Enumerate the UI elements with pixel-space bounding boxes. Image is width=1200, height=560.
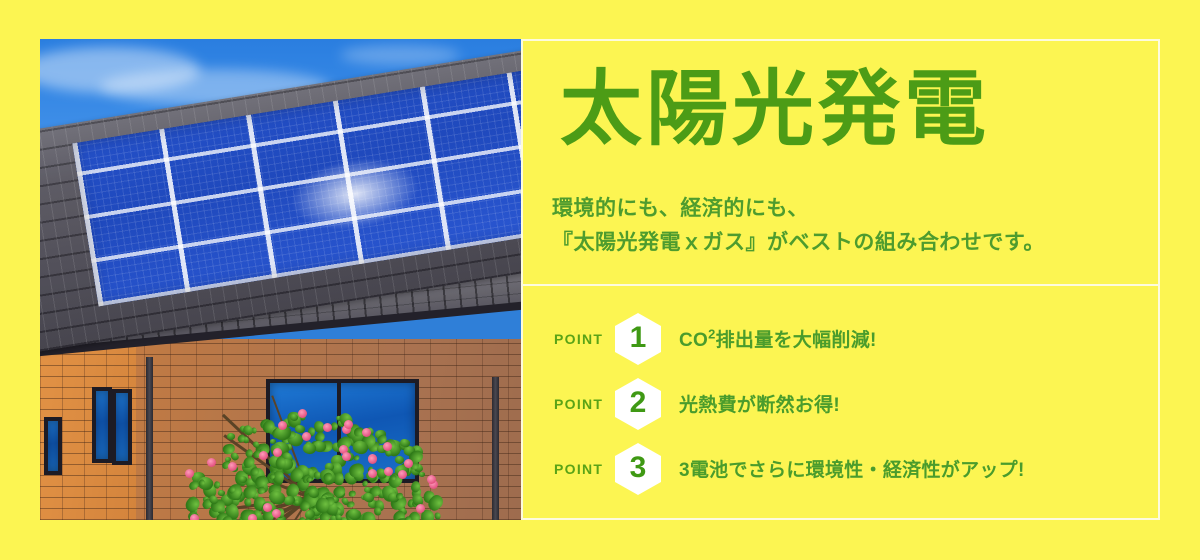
point-row-1: POINT 1 CO2排出量を大幅削減! bbox=[523, 306, 1158, 371]
point-number: 2 bbox=[615, 378, 661, 430]
cloud bbox=[340, 45, 460, 65]
hexagon-badge-icon: 3 bbox=[615, 443, 661, 495]
point-text-rest: 排出量を大幅削減! bbox=[716, 330, 877, 351]
tree-flower bbox=[368, 455, 377, 464]
point-number: 3 bbox=[615, 443, 661, 495]
tree-leaf bbox=[217, 489, 225, 496]
hexagon-badge-icon: 1 bbox=[615, 313, 661, 365]
tree-leaf bbox=[256, 486, 266, 495]
subtitle: 環境的にも、経済的にも、 『太陽光発電ｘガス』がベストの組み合わせです。 bbox=[552, 192, 1045, 260]
downpipe bbox=[492, 377, 499, 520]
tree-flower bbox=[298, 409, 307, 418]
subtitle-line-1: 環境的にも、経済的にも、 bbox=[552, 192, 1045, 226]
tree-flower bbox=[342, 452, 351, 461]
tree-flower bbox=[272, 509, 281, 518]
subtitle-line-2: 『太陽光発電ｘガス』がベストの組み合わせです。 bbox=[552, 226, 1045, 260]
tree-leaf bbox=[434, 512, 440, 519]
tree-flower bbox=[344, 420, 353, 429]
flowering-tree bbox=[160, 349, 460, 520]
point-text: 光熱費が断然お得! bbox=[679, 390, 840, 417]
point-row-2: POINT 2 光熱費が断然お得! bbox=[523, 371, 1158, 436]
tree-flower bbox=[323, 423, 332, 432]
tree-leaf bbox=[349, 491, 356, 497]
tree-leaf bbox=[419, 471, 426, 477]
tree-flower bbox=[185, 469, 194, 478]
point-text: 3電池でさらに環境性・経済性がアップ! bbox=[679, 455, 1025, 482]
tree-leaf bbox=[244, 498, 251, 506]
tree-flower bbox=[190, 514, 199, 520]
tree-leaf bbox=[214, 481, 221, 489]
tree-flower bbox=[207, 458, 216, 467]
tree-leaf bbox=[374, 507, 381, 515]
point-label: POINT bbox=[554, 461, 612, 477]
tree-leaf bbox=[353, 454, 361, 461]
tree-flower bbox=[427, 475, 436, 484]
tree-flower bbox=[248, 514, 257, 520]
tree-flower bbox=[404, 459, 413, 468]
point-number: 1 bbox=[615, 313, 661, 365]
point-label: POINT bbox=[554, 331, 612, 347]
downpipe bbox=[146, 357, 153, 520]
point-text: CO2排出量を大幅削減! bbox=[679, 325, 877, 352]
tree-leaf bbox=[301, 442, 317, 456]
tree-leaf bbox=[183, 494, 203, 514]
tree-flower bbox=[302, 432, 311, 441]
points-list: POINT 1 CO2排出量を大幅削減! POINT 2 光熱費が断然 bbox=[523, 286, 1158, 518]
card-header-section: 太陽光発電 環境的にも、経済的にも、 『太陽光発電ｘガス』がベストの組み合わせで… bbox=[523, 41, 1158, 286]
point-text-main: 3電池でさらに環境性・経済性がアップ! bbox=[679, 460, 1025, 481]
promo-banner: 太陽光発電 環境的にも、経済的にも、 『太陽光発電ｘガス』がベストの組み合わせで… bbox=[0, 0, 1200, 560]
tree-flower bbox=[383, 442, 392, 451]
house-window-narrow bbox=[112, 389, 132, 465]
tree-flower bbox=[398, 470, 407, 479]
tree-flower bbox=[263, 503, 272, 512]
hero-photo bbox=[40, 39, 521, 520]
hexagon-badge-icon: 2 bbox=[615, 378, 661, 430]
point-text-main: 光熱費が断然お得! bbox=[679, 395, 840, 416]
point-text-main: CO bbox=[679, 330, 708, 351]
tree-flower bbox=[416, 504, 425, 513]
point-label: POINT bbox=[554, 396, 612, 412]
house-window-narrow bbox=[44, 417, 62, 475]
house-window-narrow bbox=[92, 387, 112, 463]
photo-scene bbox=[40, 39, 521, 520]
content-card: 太陽光発電 環境的にも、経済的にも、 『太陽光発電ｘガス』がベストの組み合わせで… bbox=[521, 39, 1160, 520]
tree-flower bbox=[278, 421, 287, 430]
tree-flower bbox=[362, 428, 371, 437]
point-row-3: POINT 3 3電池でさらに環境性・経済性がアップ! bbox=[523, 436, 1158, 501]
page-title: 太陽光発電 bbox=[560, 69, 990, 151]
point-text-superscript: 2 bbox=[708, 327, 715, 342]
tree-flower bbox=[368, 469, 377, 478]
